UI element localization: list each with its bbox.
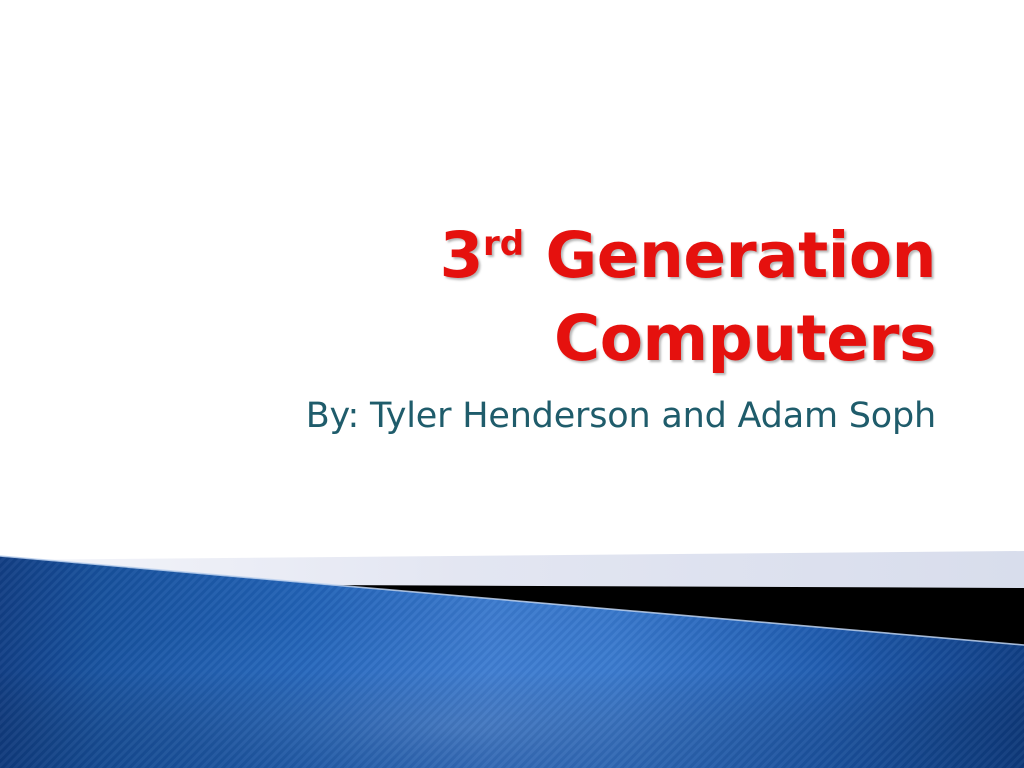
slide-title: 3rd Generation Computers: [250, 214, 936, 380]
slide-text-block: 3rd Generation Computers By: Tyler Hende…: [250, 214, 936, 437]
title-ordinal-number: 3: [440, 219, 483, 292]
title-ordinal-suffix: rd: [483, 224, 524, 264]
slide-subtitle: By: Tyler Henderson and Adam Soph: [250, 396, 936, 436]
title-main-text: Generation Computers: [524, 219, 936, 375]
presentation-slide: 3rd Generation Computers By: Tyler Hende…: [0, 0, 1024, 768]
